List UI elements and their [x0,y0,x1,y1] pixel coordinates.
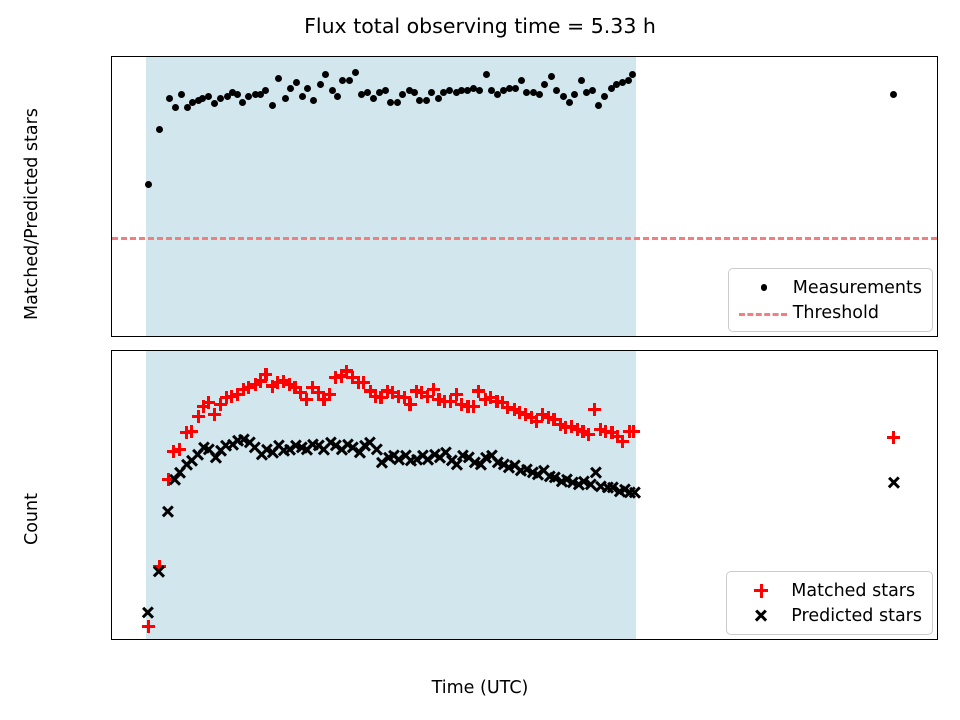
page-title: Flux total observing time = 5.33 h [0,14,960,38]
x-axis-tick [346,639,347,640]
threshold-line [112,237,937,240]
x-axis-tick [617,336,618,337]
x-axis-tick [436,336,437,337]
x-axis-tick [165,336,166,337]
data-point [287,85,294,92]
data-point [334,93,341,100]
data-point [601,93,608,100]
x-axis-tick [799,639,800,640]
data-point [394,99,401,106]
y-axis-tick [111,139,112,140]
y-axis-tick [111,418,112,419]
y-axis-tick [111,501,112,502]
data-point [476,87,483,94]
y-axis-tick [111,286,112,287]
data-point [299,93,306,100]
data-point [346,77,353,84]
y-axis-tick [111,90,112,91]
panel-counts: 5010015001:0002:0003:0004:0005:0006:0007… [111,350,938,640]
data-point [483,71,490,78]
dashed-line-icon [737,302,789,324]
data-point [145,181,152,188]
data-point [411,89,418,96]
legend-top[interactable]: Measurements Threshold [728,268,933,332]
data-point [239,99,246,106]
legend-item-matched-stars[interactable]: Matched stars [735,578,922,603]
data-point [560,93,567,100]
y-axis-tick [111,335,112,336]
data-point [304,85,311,92]
y-axis-tick [111,188,112,189]
plus-marker-icon [735,580,787,602]
y-axis-label-bottom: Count [22,493,42,545]
legend-item-measurements[interactable]: Measurements [737,275,922,300]
data-point [578,77,585,84]
legend-item-threshold[interactable]: Threshold [737,300,922,325]
x-axis-tick [255,639,256,640]
data-point [423,97,430,104]
x-axis-tick [527,639,528,640]
data-point [234,91,241,98]
data-point [536,91,543,98]
data-point [566,99,573,106]
x-axis-tick [527,336,528,337]
legend-label-threshold: Threshold [789,303,879,323]
x-axis-tick [889,336,890,337]
x-axis-tick [889,639,890,640]
dot-marker-icon [737,277,789,299]
figure-canvas: Flux total observing time = 5.33 h Match… [0,0,960,720]
legend-item-predicted-stars[interactable]: Predicted stars [735,603,922,628]
data-point [548,73,555,80]
legend-label-measurements: Measurements [789,278,922,298]
legend-label-matched-stars: Matched stars [787,581,915,601]
data-point [553,87,560,94]
x-axis-tick [255,336,256,337]
y-axis-tick [111,237,112,238]
data-point [317,81,324,88]
data-point [382,87,389,94]
x-axis-tick [799,336,800,337]
data-point [156,126,163,133]
data-point [512,85,519,92]
data-point [364,89,371,96]
data-point [435,95,442,102]
panel-ratio: 0.000.250.500.751.001.25 Measurements Th… [111,56,938,337]
x-axis-tick [708,336,709,337]
data-point [518,77,525,84]
data-point [205,93,212,100]
x-axis-label: Time (UTC) [0,678,960,698]
data-point [370,95,377,102]
data-point [625,77,632,84]
data-point [890,91,897,98]
legend-bottom[interactable]: Matched stars Predicted stars [726,571,933,635]
y-axis-tick [111,585,112,586]
x-axis-tick [708,639,709,640]
data-point [178,91,185,98]
x-axis-tick [436,639,437,640]
data-point [428,89,435,96]
data-point [282,95,289,102]
x-axis-tick [617,639,618,640]
x-axis-tick [165,639,166,640]
y-axis-label-top: Matched/Predicted stars [22,108,42,320]
data-point [399,91,406,98]
legend-label-predicted-stars: Predicted stars [787,606,922,626]
x-marker-icon [735,605,787,627]
x-axis-tick [346,336,347,337]
